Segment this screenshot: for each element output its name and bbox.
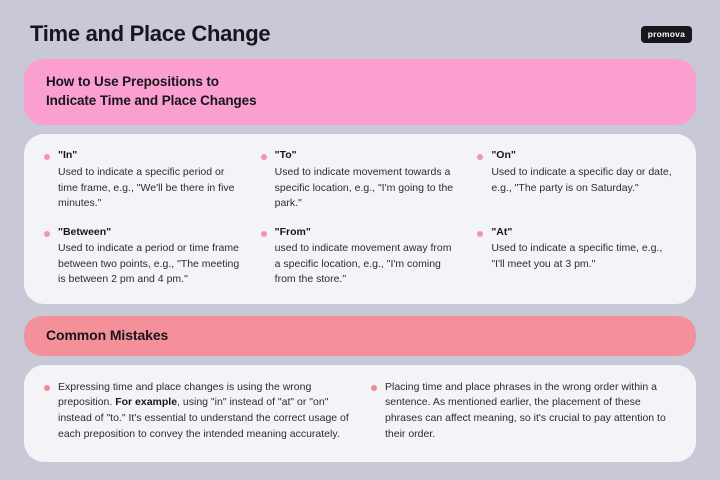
bullet-dot-icon	[261, 231, 267, 237]
mistake-text-emphasis: For example	[115, 396, 177, 408]
common-mistakes-title: Common Mistakes	[46, 327, 674, 344]
common-mistakes-card: Expressing time and place changes is usi…	[24, 365, 696, 462]
mistakes-grid: Expressing time and place changes is usi…	[44, 380, 676, 443]
preposition-description: used to indicate movement away from a sp…	[275, 241, 460, 288]
prepositions-banner-title: How to Use Prepositions to Indicate Time…	[46, 73, 674, 110]
list-item: "To" Used to indicate movement towards a…	[261, 149, 460, 211]
preposition-term: "Between"	[58, 226, 243, 240]
list-item: Expressing time and place changes is usi…	[44, 380, 349, 443]
mistake-text: Placing time and place phrases in the wr…	[385, 380, 676, 443]
preposition-term: "To"	[275, 149, 460, 163]
bullet-dot-icon	[371, 385, 377, 391]
mistake-text-prefix: Placing time and place phrases in the wr…	[385, 381, 666, 440]
prepositions-card: "In" Used to indicate a specific period …	[24, 134, 696, 303]
bullet-dot-icon	[44, 385, 50, 391]
promova-logo: promova	[641, 26, 692, 43]
list-item: "In" Used to indicate a specific period …	[44, 149, 243, 211]
preposition-description: Used to indicate movement towards a spec…	[275, 165, 460, 212]
preposition-term: "In"	[58, 149, 243, 163]
preposition-term: "From"	[275, 226, 460, 240]
prepositions-grid: "In" Used to indicate a specific period …	[44, 149, 676, 287]
bullet-dot-icon	[44, 154, 50, 160]
page-title: Time and Place Change	[30, 22, 270, 46]
bullet-dot-icon	[477, 154, 483, 160]
common-mistakes-banner: Common Mistakes	[24, 316, 696, 356]
list-item: "Between" Used to indicate a period or t…	[44, 226, 243, 288]
mistake-text: Expressing time and place changes is usi…	[58, 380, 349, 443]
preposition-term: "At"	[491, 226, 676, 240]
preposition-description: Used to indicate a specific period or ti…	[58, 165, 243, 212]
list-item: "On" Used to indicate a specific day or …	[477, 149, 676, 211]
bullet-dot-icon	[44, 231, 50, 237]
preposition-description: Used to indicate a specific day or date,…	[491, 165, 676, 196]
prepositions-banner: How to Use Prepositions to Indicate Time…	[24, 59, 696, 125]
list-item: Placing time and place phrases in the wr…	[371, 380, 676, 443]
infographic-page: Time and Place Change promova How to Use…	[0, 0, 720, 480]
preposition-description: Used to indicate a specific time, e.g., …	[491, 241, 676, 272]
bullet-dot-icon	[261, 154, 267, 160]
list-item: "At" Used to indicate a specific time, e…	[477, 226, 676, 288]
preposition-description: Used to indicate a period or time frame …	[58, 241, 243, 288]
bullet-dot-icon	[477, 231, 483, 237]
list-item: "From" used to indicate movement away fr…	[261, 226, 460, 288]
preposition-term: "On"	[491, 149, 676, 163]
header: Time and Place Change promova	[24, 22, 696, 46]
